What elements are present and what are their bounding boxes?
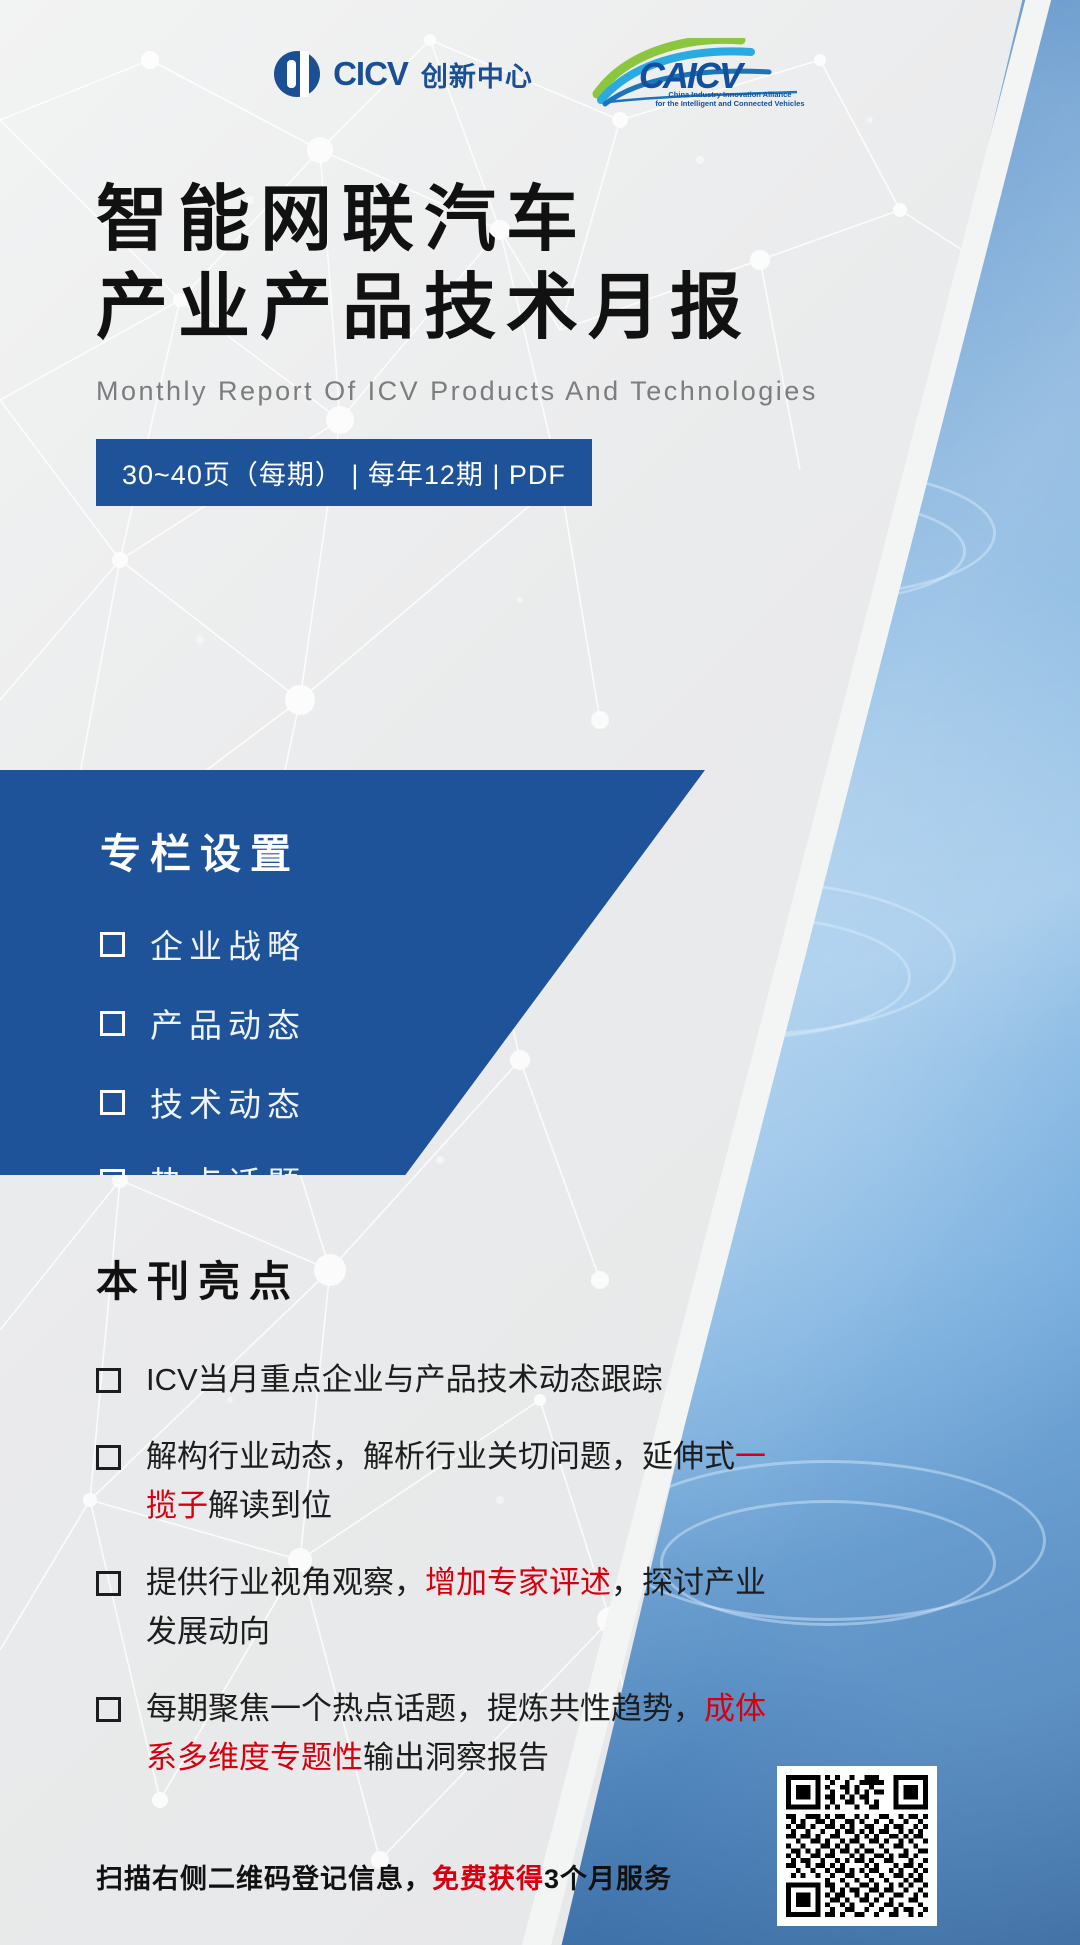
body-text: 解读到位 bbox=[208, 1488, 332, 1523]
qr-code[interactable] bbox=[777, 1766, 937, 1926]
columns-heading: 专栏设置 bbox=[100, 820, 705, 880]
column-item-label: 产品动态 bbox=[150, 999, 306, 1047]
cicv-mark-icon bbox=[274, 51, 320, 97]
checkbox-square-icon bbox=[100, 1090, 125, 1115]
highlight-item: 提供行业视角观察，增加专家评述，探讨产业发展动向 bbox=[96, 1558, 796, 1656]
body-text: ICV当月重点企业与产品技术动态跟踪 bbox=[146, 1362, 663, 1397]
checkbox-square-icon bbox=[96, 1445, 121, 1470]
checkbox-square-icon bbox=[100, 1011, 125, 1036]
highlight-text: 提供行业视角观察，增加专家评述，探讨产业发展动向 bbox=[146, 1558, 796, 1656]
body-text: 每期聚焦一个热点话题，提炼共性趋势， bbox=[146, 1691, 704, 1726]
qr-code-image bbox=[786, 1775, 928, 1917]
checkbox-square-icon bbox=[96, 1368, 121, 1393]
emphasis-text: 增加专家评述 bbox=[425, 1565, 611, 1600]
page-subtitle-english: Monthly Report Of ICV Products And Techn… bbox=[96, 376, 818, 407]
checkbox-square-icon bbox=[96, 1697, 121, 1722]
highlight-text: 解构行业动态，解析行业关切问题，延伸式一揽子解读到位 bbox=[146, 1432, 796, 1530]
title-block: 智能网联汽车 产业产品技术月报 Monthly Report Of ICV Pr… bbox=[96, 176, 818, 506]
highlight-text: 每期聚焦一个热点话题，提炼共性趋势，成体系多维度专题性输出洞察报告 bbox=[146, 1684, 796, 1782]
highlights-list: ICV当月重点企业与产品技术动态跟踪 解构行业动态，解析行业关切问题，延伸式一揽… bbox=[96, 1355, 796, 1782]
cicv-wordmark: CICV bbox=[333, 55, 408, 93]
cicv-chinese-name: 创新中心 bbox=[421, 55, 533, 94]
page-title-line2: 产业产品技术月报 bbox=[96, 264, 818, 352]
body-text: 扫描右侧二维码登记信息， bbox=[96, 1864, 432, 1894]
highlights-heading: 本刊亮点 bbox=[96, 1248, 796, 1309]
logo-caicv: CAICV China Industry Innovation Alliance… bbox=[591, 38, 806, 110]
body-text: 解构行业动态，解析行业关切问题，延伸式 bbox=[146, 1439, 735, 1474]
highlight-item: 每期聚焦一个热点话题，提炼共性趋势，成体系多维度专题性输出洞察报告 bbox=[96, 1684, 796, 1782]
poster: 5G 5G 5G 5G CICV 创新中心 CAICV bbox=[0, 0, 1080, 1945]
column-item-label: 企业战略 bbox=[150, 920, 306, 968]
caicv-tagline-line1: China Industry Innovation Alliance bbox=[655, 90, 805, 99]
spec-badge: 30~40页（每期） | 每年12期 | PDF bbox=[96, 439, 592, 506]
body-text: 3个月服务 bbox=[544, 1864, 672, 1894]
footer-cta: 扫描右侧二维码登记信息，免费获得3个月服务 bbox=[96, 1857, 672, 1896]
body-text: 输出洞察报告 bbox=[363, 1740, 549, 1775]
checkbox-square-icon bbox=[96, 1571, 121, 1596]
column-item-label: 技术动态 bbox=[150, 1078, 306, 1126]
highlight-text: ICV当月重点企业与产品技术动态跟踪 bbox=[146, 1355, 663, 1404]
logo-cicv: CICV 创新中心 bbox=[274, 51, 533, 97]
caicv-tagline-line2: for the Intelligent and Connected Vehicl… bbox=[655, 99, 805, 108]
caicv-tagline: China Industry Innovation Alliance for t… bbox=[655, 90, 805, 108]
header-logos: CICV 创新中心 CAICV China Industry Innovatio… bbox=[0, 34, 1080, 114]
emphasis-text: 免费获得 bbox=[432, 1864, 544, 1894]
checkbox-square-icon bbox=[100, 932, 125, 957]
highlights-section: 本刊亮点 ICV当月重点企业与产品技术动态跟踪 解构行业动态，解析行业关切问题，… bbox=[96, 1248, 796, 1810]
page-title-line1: 智能网联汽车 bbox=[96, 176, 818, 264]
body-text: 提供行业视角观察， bbox=[146, 1565, 425, 1600]
highlight-item: 解构行业动态，解析行业关切问题，延伸式一揽子解读到位 bbox=[96, 1432, 796, 1530]
highlight-item: ICV当月重点企业与产品技术动态跟踪 bbox=[96, 1355, 796, 1404]
